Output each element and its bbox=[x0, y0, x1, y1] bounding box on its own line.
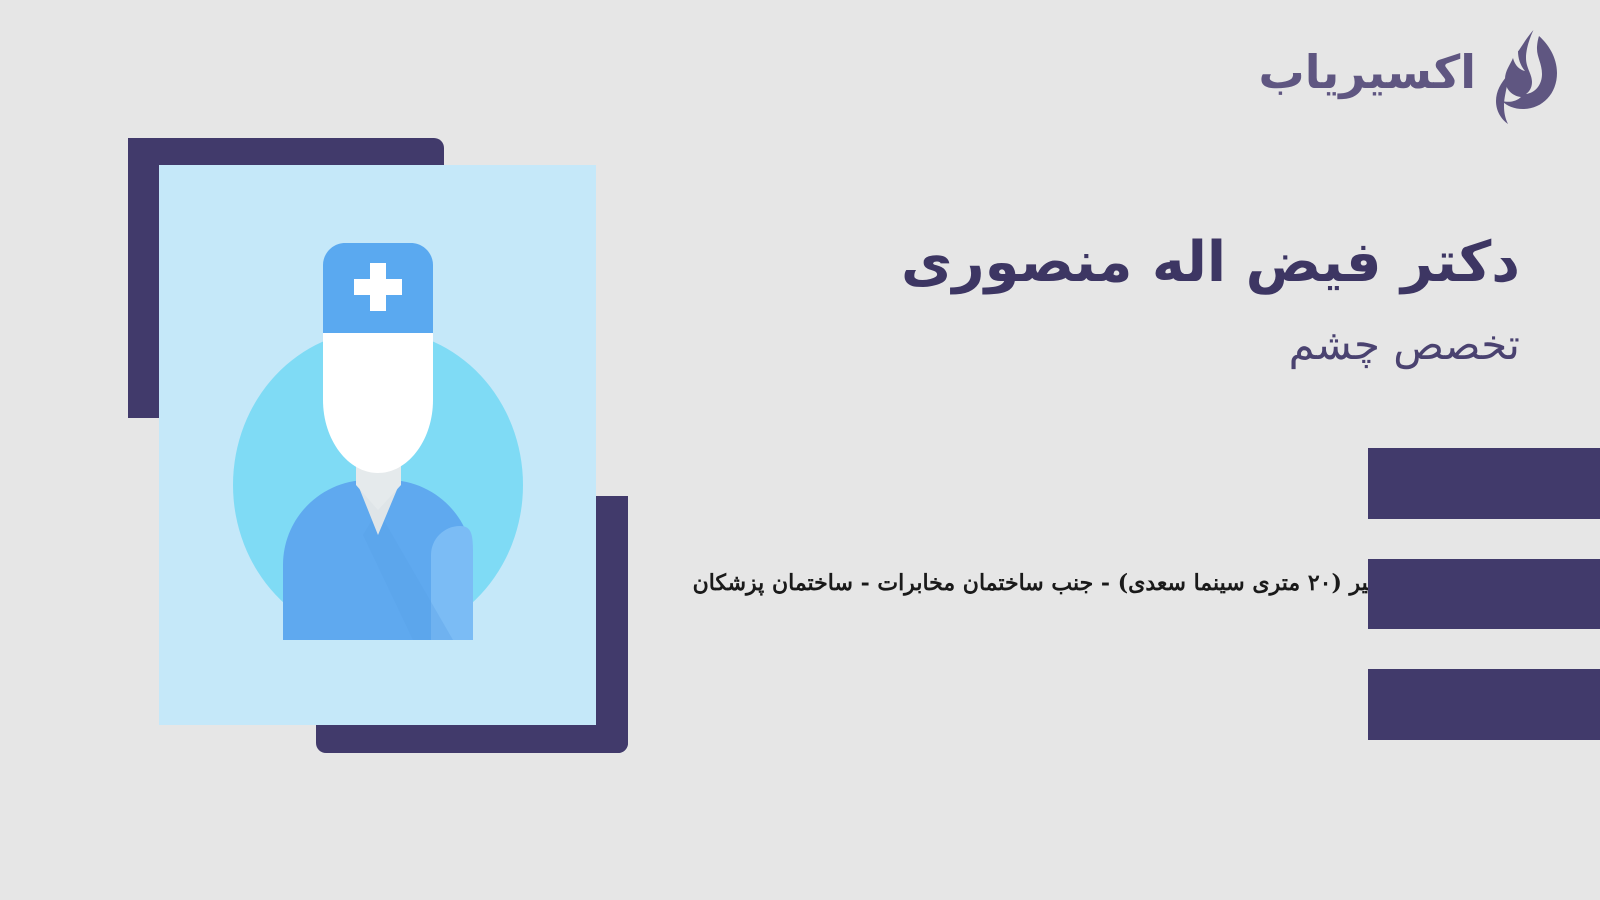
frame-back-left bbox=[128, 138, 159, 418]
brand-logo[interactable]: اکسیریاب bbox=[1259, 28, 1561, 128]
doctor-specialty: تخصص چشم bbox=[760, 320, 1520, 370]
frame-front-bottom bbox=[316, 725, 628, 753]
doctor-illustration bbox=[128, 138, 628, 753]
decorative-bar-3 bbox=[1368, 669, 1600, 740]
doctor-address-wrapper: خیابان هفت تیر (۲۰ متری سینما سعدی) - جن… bbox=[0, 566, 1490, 606]
decorative-bar-2 bbox=[1368, 559, 1600, 629]
decorative-bar-1 bbox=[1368, 448, 1600, 519]
decorative-bars bbox=[1368, 448, 1600, 740]
flame-icon bbox=[1486, 28, 1560, 128]
doctor-name: دکتر فیض اله منصوری bbox=[760, 228, 1520, 298]
frame-front-right bbox=[596, 496, 628, 753]
profile-card-canvas: اکسیریاب bbox=[0, 0, 1600, 900]
doctor-address: خیابان هفت تیر (۲۰ متری سینما سعدی) - جن… bbox=[0, 566, 1490, 600]
photo-panel bbox=[159, 165, 596, 725]
doctor-info: دکتر فیض اله منصوری تخصص چشم bbox=[760, 228, 1520, 370]
brand-name: اکسیریاب bbox=[1259, 49, 1477, 107]
